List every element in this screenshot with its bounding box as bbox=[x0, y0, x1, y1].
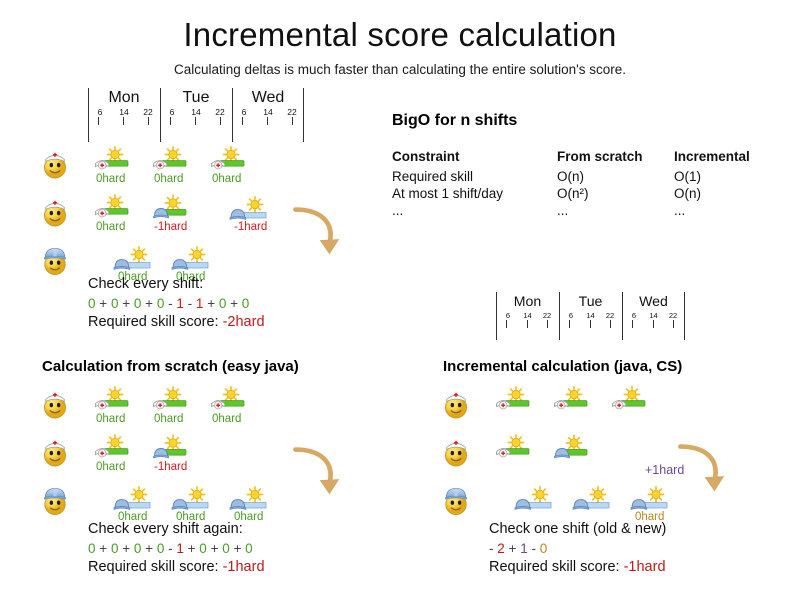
hour-labels: 61422 bbox=[232, 107, 304, 117]
timeline-day-mon: Mon 61422 bbox=[88, 88, 160, 126]
worker-avatar-svg bbox=[42, 484, 68, 517]
sum-token: - bbox=[168, 541, 173, 556]
curved-arrow-svg bbox=[290, 444, 342, 500]
score-summary-top: Check every shift: 0 + 0 + 0 + 0 - 1 - 1… bbox=[88, 275, 265, 332]
shift-nurse-shift-r0-d2[interactable] bbox=[210, 388, 254, 414]
hour-labels: 61422 bbox=[622, 311, 685, 320]
shift-worker-shift-blue-r2-d0[interactable] bbox=[112, 486, 156, 512]
sum-token: + bbox=[211, 541, 219, 556]
sum-token: 0 bbox=[157, 296, 165, 311]
day-divider bbox=[303, 88, 304, 142]
shift-icon-svg bbox=[170, 486, 214, 512]
hour-label: 22 bbox=[665, 311, 681, 320]
day-divider bbox=[88, 88, 89, 142]
hour-tick bbox=[98, 117, 99, 125]
avatar-nurse-1 bbox=[42, 148, 68, 181]
shift-nurse-shift-r1-d0[interactable] bbox=[495, 436, 539, 462]
bigo-cell: ... bbox=[674, 202, 750, 219]
hour-tick bbox=[610, 320, 611, 328]
sum-token: 1 bbox=[196, 296, 204, 311]
move-arrow bbox=[290, 444, 342, 500]
sum-token: 2 bbox=[497, 541, 505, 556]
shift-worker-shift-green-r1-d1[interactable] bbox=[152, 436, 196, 462]
sum-token: 0 bbox=[245, 541, 253, 556]
avatar-worker-1 bbox=[42, 484, 68, 517]
hour-tick bbox=[506, 320, 507, 328]
avatar-nurse-2 bbox=[42, 196, 68, 229]
bigo-cell: At most 1 shift/day bbox=[392, 185, 557, 202]
sum-token: - bbox=[188, 296, 193, 311]
check-label: Check every shift: bbox=[88, 275, 265, 294]
day-label: Mon bbox=[496, 292, 559, 311]
day-divider bbox=[559, 292, 560, 340]
curved-arrow-svg bbox=[675, 440, 727, 498]
sum-token: 0 bbox=[157, 541, 165, 556]
shift-nurse-shift-r0-d0[interactable] bbox=[94, 388, 138, 414]
shift-icon-svg bbox=[495, 388, 539, 414]
result-line: Required skill score: -1hard bbox=[88, 558, 265, 577]
hour-tick bbox=[653, 320, 654, 328]
check-label: Check one shift (old & new) bbox=[489, 520, 666, 539]
shift-nurse-shift-r0-d0[interactable] bbox=[94, 148, 138, 174]
hour-tick bbox=[590, 320, 591, 328]
hour-label: 14 bbox=[188, 107, 204, 117]
shift-nurse-shift-r0-d2[interactable] bbox=[611, 388, 655, 414]
hour-ticks bbox=[232, 117, 304, 126]
hour-ticks bbox=[160, 117, 232, 126]
avatar-worker-1 bbox=[443, 484, 469, 517]
shift-score: 0hard bbox=[96, 221, 125, 233]
shift-score: 0hard bbox=[212, 413, 241, 425]
bigo-heading: BigO for n shifts bbox=[392, 112, 750, 130]
shift-score: -1hard bbox=[234, 221, 267, 233]
hour-label: 22 bbox=[602, 311, 618, 320]
worker-avatar-svg bbox=[443, 484, 469, 517]
hour-label: 14 bbox=[260, 107, 276, 117]
score-summary-scratch: Check every shift again: 0 + 0 + 0 + 0 -… bbox=[88, 520, 265, 577]
page-subtitle: Calculating deltas is much faster than c… bbox=[0, 62, 800, 77]
sum-token: 0 bbox=[219, 296, 227, 311]
sum-token: + bbox=[188, 541, 196, 556]
hour-label: 22 bbox=[284, 107, 300, 117]
hour-tick bbox=[673, 320, 674, 328]
sum-token: + bbox=[207, 296, 215, 311]
sum-token: 1 bbox=[520, 541, 528, 556]
hour-tick bbox=[195, 117, 196, 125]
result-label: Required skill score: bbox=[88, 559, 219, 575]
shift-nurse-shift-r1-d0[interactable] bbox=[94, 196, 138, 222]
shift-worker-shift-blue-r2-d2[interactable] bbox=[228, 486, 272, 512]
timeline-day-mon: Mon 61422 bbox=[496, 292, 559, 329]
sum-token: - bbox=[489, 541, 494, 556]
bigo-table: ConstraintFrom scratchIncrementalRequire… bbox=[392, 148, 750, 219]
shift-score: 0hard bbox=[212, 173, 241, 185]
timeline-days: Mon 61422 Tue 61422 Wed 61422 bbox=[88, 88, 304, 126]
bigo-header-cell: Constraint bbox=[392, 148, 557, 168]
hour-label: 6 bbox=[236, 107, 252, 117]
timeline-day-wed: Wed 61422 bbox=[232, 88, 304, 126]
shift-worker-shift-blue-r2-d1[interactable] bbox=[170, 246, 214, 272]
sum-token: + bbox=[509, 541, 517, 556]
shift-nurse-shift-r0-d0[interactable] bbox=[495, 388, 539, 414]
shift-icon-svg bbox=[210, 148, 254, 174]
hour-label: 6 bbox=[563, 311, 579, 320]
day-label: Wed bbox=[232, 88, 304, 107]
hour-ticks bbox=[496, 320, 559, 329]
sum-token: + bbox=[122, 541, 130, 556]
sum-token: 1 bbox=[176, 541, 184, 556]
result-label: Required skill score: bbox=[88, 314, 219, 330]
shift-icon-svg bbox=[495, 436, 539, 462]
shift-worker-shift-blue-r1-d2[interactable] bbox=[228, 196, 272, 222]
hour-tick bbox=[170, 117, 171, 125]
sum-token: + bbox=[99, 541, 107, 556]
nurse-avatar-svg bbox=[42, 436, 68, 469]
sum-token: + bbox=[145, 541, 153, 556]
hour-label: 14 bbox=[646, 311, 662, 320]
day-divider bbox=[684, 292, 685, 340]
day-divider bbox=[496, 292, 497, 340]
hour-ticks bbox=[622, 320, 685, 329]
sum-expression: 0 + 0 + 0 + 0 - 1 + 0 + 0 + 0 bbox=[88, 539, 265, 558]
sum-token: - bbox=[531, 541, 536, 556]
sum-token: + bbox=[230, 296, 238, 311]
move-arrow bbox=[290, 204, 342, 260]
shift-icon-svg bbox=[152, 148, 196, 174]
shift-icon-svg bbox=[112, 486, 156, 512]
bigo-cell: O(n) bbox=[674, 185, 750, 202]
slide-root: Incremental score calculation Calculatin… bbox=[0, 0, 800, 600]
day-label: Wed bbox=[622, 292, 685, 311]
timeline-day-wed: Wed 61422 bbox=[622, 292, 685, 329]
hour-label: 22 bbox=[212, 107, 228, 117]
hour-labels: 61422 bbox=[559, 311, 622, 320]
shift-score: 0hard bbox=[154, 413, 183, 425]
shift-icon-svg bbox=[571, 486, 615, 512]
sum-expression: - 2 + 1 - 0 bbox=[489, 539, 666, 558]
sum-token: 0 bbox=[88, 296, 96, 311]
sum-token: 1 bbox=[176, 296, 184, 311]
shift-icon-svg bbox=[94, 148, 138, 174]
hour-tick bbox=[292, 117, 293, 125]
sum-token: 0 bbox=[222, 541, 230, 556]
avatar-nurse-1 bbox=[443, 388, 469, 421]
shift-icon-svg bbox=[210, 388, 254, 414]
hour-tick bbox=[123, 117, 124, 125]
shift-worker-shift-blue-r2-d0[interactable] bbox=[112, 246, 156, 272]
shift-nurse-shift-r0-d1[interactable] bbox=[553, 388, 597, 414]
shift-icon-svg bbox=[553, 436, 597, 462]
sum-token: + bbox=[234, 541, 242, 556]
day-divider bbox=[622, 292, 623, 340]
day-divider bbox=[160, 88, 161, 142]
sum-token: 0 bbox=[111, 541, 119, 556]
bigo-row: Required skillO(n)O(1) bbox=[392, 168, 750, 185]
shift-score: -1hard bbox=[154, 221, 187, 233]
result-line: Required skill score: -1hard bbox=[489, 558, 666, 577]
shift-icon-svg bbox=[611, 388, 655, 414]
shift-icon-svg bbox=[629, 486, 673, 512]
day-label: Tue bbox=[559, 292, 622, 311]
bigo-header-cell: From scratch bbox=[557, 148, 674, 168]
shift-icon-svg bbox=[94, 388, 138, 414]
sum-token: 0 bbox=[134, 541, 142, 556]
hour-labels: 61422 bbox=[88, 107, 160, 117]
day-label: Mon bbox=[88, 88, 160, 107]
shift-nurse-shift-r1-d0[interactable] bbox=[94, 436, 138, 462]
result-value: -1hard bbox=[223, 559, 265, 575]
hour-tick bbox=[220, 117, 221, 125]
timeline-day-tue: Tue 61422 bbox=[160, 88, 232, 126]
bigo-row: At most 1 shift/dayO(n²)O(n) bbox=[392, 185, 750, 202]
shift-nurse-shift-r0-d2[interactable] bbox=[210, 148, 254, 174]
timeline-days: Mon 61422 Tue 61422 Wed 61422 bbox=[496, 292, 685, 329]
shift-worker-shift-blue-r2-d0[interactable] bbox=[513, 486, 557, 512]
sum-expression: 0 + 0 + 0 + 0 - 1 - 1 + 0 + 0 bbox=[88, 294, 265, 313]
shift-worker-shift-blue-r2-d1[interactable] bbox=[170, 486, 214, 512]
hour-label: 6 bbox=[92, 107, 108, 117]
nurse-avatar-svg bbox=[42, 388, 68, 421]
nurse-avatar-svg bbox=[443, 436, 469, 469]
score-summary-incremental: Check one shift (old & new) - 2 + 1 - 0 … bbox=[489, 520, 666, 577]
shift-icon-svg bbox=[228, 196, 272, 222]
avatar-nurse-2 bbox=[443, 436, 469, 469]
bigo-cell: O(1) bbox=[674, 168, 750, 185]
hour-label: 6 bbox=[626, 311, 642, 320]
shift-icon-svg bbox=[94, 436, 138, 462]
shift-icon-svg bbox=[112, 246, 156, 272]
scratch-panel-title: Calculation from scratch (easy java) bbox=[42, 358, 299, 375]
shift-worker-shift-green-r1-d1[interactable] bbox=[152, 196, 196, 222]
shift-icon-svg bbox=[228, 486, 272, 512]
shift-worker-shift-blue-r2-d2[interactable] bbox=[629, 486, 673, 512]
hour-tick bbox=[547, 320, 548, 328]
result-label: Required skill score: bbox=[489, 559, 620, 575]
sum-token: 0 bbox=[242, 296, 250, 311]
shift-icon-svg bbox=[152, 436, 196, 462]
bigo-cell: ... bbox=[392, 202, 557, 219]
hour-labels: 61422 bbox=[496, 311, 559, 320]
hour-label: 14 bbox=[583, 311, 599, 320]
sum-token: + bbox=[99, 296, 107, 311]
hour-tick bbox=[242, 117, 243, 125]
shift-icon-svg bbox=[513, 486, 557, 512]
shift-score: 0hard bbox=[96, 461, 125, 473]
sum-token: - bbox=[168, 296, 173, 311]
sum-token: 0 bbox=[199, 541, 207, 556]
nurse-avatar-svg bbox=[42, 196, 68, 229]
hour-label: 22 bbox=[140, 107, 156, 117]
worker-avatar-svg bbox=[42, 244, 68, 277]
shift-icon-svg bbox=[94, 196, 138, 222]
shift-score: 0hard bbox=[154, 173, 183, 185]
hour-label: 22 bbox=[539, 311, 555, 320]
timeline-day-tue: Tue 61422 bbox=[559, 292, 622, 329]
avatar-nurse-1 bbox=[42, 388, 68, 421]
sum-token: + bbox=[145, 296, 153, 311]
bigo-cell: O(n) bbox=[557, 168, 674, 185]
timeline-header-bottom: Mon 61422 Tue 61422 Wed 61422 bbox=[496, 292, 685, 329]
avatar-worker-1 bbox=[42, 244, 68, 277]
hour-ticks bbox=[559, 320, 622, 329]
hour-label: 14 bbox=[116, 107, 132, 117]
curved-arrow-svg bbox=[290, 204, 342, 260]
hour-label: 14 bbox=[520, 311, 536, 320]
hour-label: 6 bbox=[164, 107, 180, 117]
shift-score: 0hard bbox=[96, 173, 125, 185]
result-value: -2hard bbox=[223, 314, 265, 330]
bigo-header-row: ConstraintFrom scratchIncremental bbox=[392, 148, 750, 168]
bigo-table-section: BigO for n shifts ConstraintFrom scratch… bbox=[392, 112, 750, 219]
day-divider bbox=[232, 88, 233, 142]
shift-score: 0hard bbox=[96, 413, 125, 425]
hour-labels: 61422 bbox=[160, 107, 232, 117]
shift-icon-svg bbox=[170, 246, 214, 272]
hour-tick bbox=[267, 117, 268, 125]
sum-token: 0 bbox=[540, 541, 548, 556]
shift-icon-svg bbox=[152, 388, 196, 414]
shift-nurse-shift-r0-d1[interactable] bbox=[152, 388, 196, 414]
bigo-cell: ... bbox=[557, 202, 674, 219]
incremental-panel-title: Incremental calculation (java, CS) bbox=[443, 358, 682, 375]
hour-tick bbox=[569, 320, 570, 328]
nurse-avatar-svg bbox=[443, 388, 469, 421]
move-arrow bbox=[675, 440, 727, 498]
bigo-row: ......... bbox=[392, 202, 750, 219]
shift-worker-shift-blue-r2-d1[interactable] bbox=[571, 486, 615, 512]
timeline-header-top: Mon 61422 Tue 61422 Wed 61422 bbox=[88, 88, 304, 126]
result-line: Required skill score: -2hard bbox=[88, 313, 265, 332]
result-value: -1hard bbox=[624, 559, 666, 575]
sum-token: 0 bbox=[88, 541, 96, 556]
shift-nurse-shift-r0-d1[interactable] bbox=[152, 148, 196, 174]
hour-label: 6 bbox=[500, 311, 516, 320]
sum-token: + bbox=[122, 296, 130, 311]
shift-icon-svg bbox=[553, 388, 597, 414]
avatar-nurse-2 bbox=[42, 436, 68, 469]
nurse-avatar-svg bbox=[42, 148, 68, 181]
shift-worker-shift-green-r1-d1[interactable] bbox=[553, 436, 597, 462]
hour-tick bbox=[527, 320, 528, 328]
day-label: Tue bbox=[160, 88, 232, 107]
check-label: Check every shift again: bbox=[88, 520, 265, 539]
bigo-cell: O(n²) bbox=[557, 185, 674, 202]
hour-ticks bbox=[88, 117, 160, 126]
hour-tick bbox=[632, 320, 633, 328]
bigo-header-cell: Incremental bbox=[674, 148, 750, 168]
sum-token: 0 bbox=[134, 296, 142, 311]
shift-score: -1hard bbox=[154, 461, 187, 473]
bigo-cell: Required skill bbox=[392, 168, 557, 185]
sum-token: 0 bbox=[111, 296, 119, 311]
hour-tick bbox=[148, 117, 149, 125]
page-title: Incremental score calculation bbox=[0, 16, 800, 54]
shift-icon-svg bbox=[152, 196, 196, 222]
